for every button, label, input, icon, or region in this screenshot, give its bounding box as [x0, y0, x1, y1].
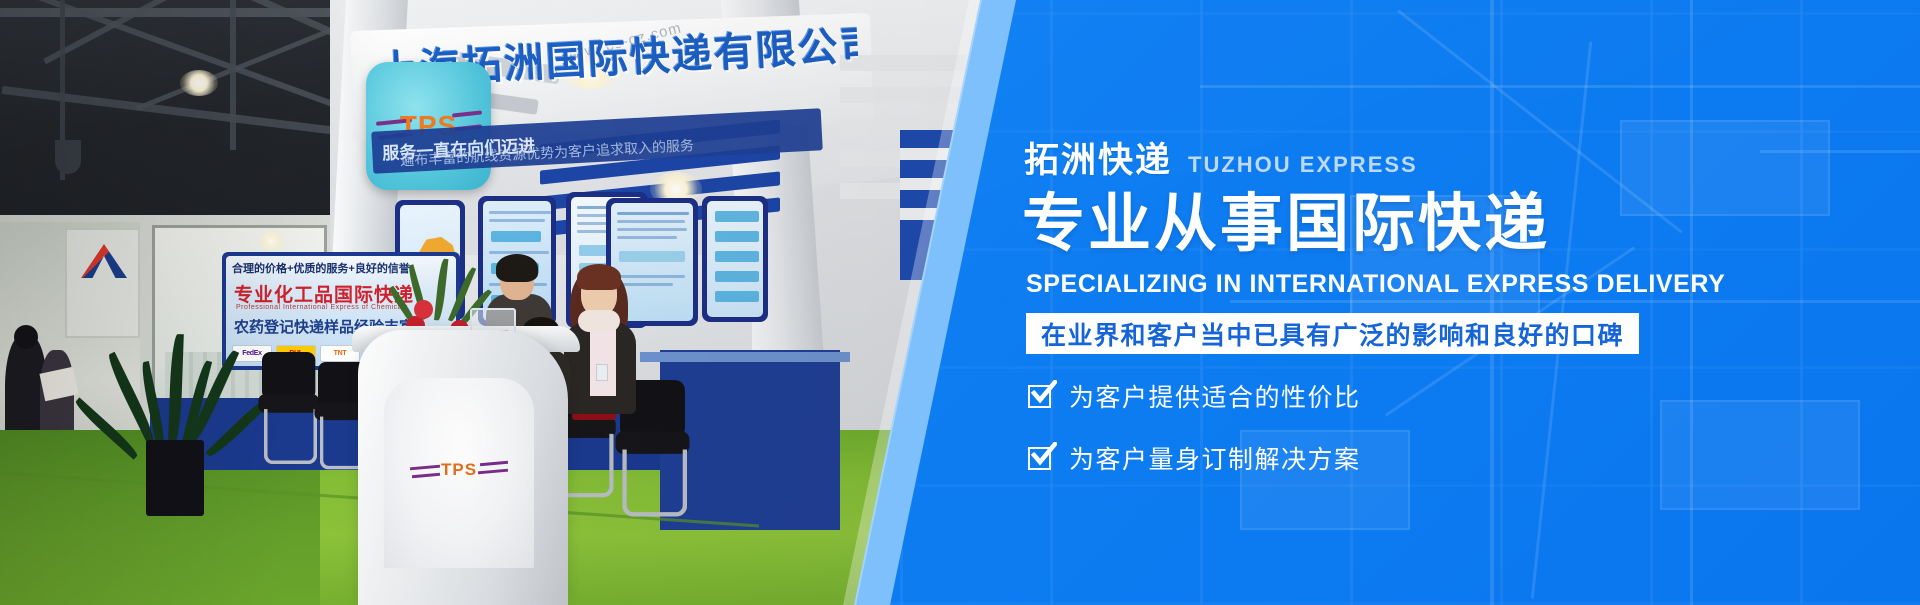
ceiling-spotlight-icon — [180, 70, 218, 96]
reception-desk-front-panel: TPS — [384, 378, 534, 568]
checkbox-checked-icon — [1028, 447, 1051, 470]
brand-name-en: TUZHOU EXPRESS — [1188, 154, 1418, 178]
ceiling-truss-icon — [230, 0, 236, 150]
booth-base-strip — [640, 352, 850, 362]
bullet-label: 为客户量身订制解决方案 — [1069, 440, 1361, 476]
list-item: 为客户提供适合的性价比 — [1028, 378, 1361, 414]
highlight-statement-text: 在业界和客户当中已具有广泛的影响和良好的口碑 — [1041, 316, 1624, 352]
headline-cn: 专业从事国际快递 — [1022, 192, 1550, 258]
subheadline-en: SPECIALIZING IN INTERNATIONAL EXPRESS DE… — [1026, 270, 1725, 299]
booth-panel-info — [702, 196, 768, 322]
bullet-label: 为客户提供适合的性价比 — [1069, 378, 1361, 414]
highlight-statement-bar: 在业界和客户当中已具有广泛的影响和良好的口碑 — [1026, 313, 1639, 354]
list-item: 为客户量身订制解决方案 — [1028, 440, 1361, 476]
ad-board-line-1: 合理的价格+优质的服务+良好的信誉 — [232, 260, 410, 276]
brand-name-cn: 拓洲快递 — [1024, 143, 1172, 178]
ceiling-spotlight-icon — [258, 232, 284, 250]
banner-copy-block: 拓洲快递 TUZHOU EXPRESS 专业从事国际快递 SPECIALIZIN… — [1024, 0, 1904, 605]
brand-row: 拓洲快递 TUZHOU EXPRESS — [1024, 143, 1418, 178]
checkbox-checked-icon — [1028, 385, 1051, 408]
ad-board-line-2: 专业化工品国际快递 — [234, 280, 414, 307]
ceiling-lamp-icon — [55, 140, 81, 174]
exhibition-booth-photo: www.tps-oz.com 上海拓洲国际快递有限公司 TPS 服务一直在向们迈… — [0, 0, 1010, 605]
tps-desk-logo-text: TPS — [384, 460, 534, 480]
background-logo-icon — [81, 244, 127, 278]
visitor-head — [14, 325, 38, 349]
potted-palm-plant — [128, 330, 224, 510]
background-poster — [65, 228, 140, 338]
feature-bullet-list: 为客户提供适合的性价比 为客户量身订制解决方案 — [1028, 378, 1361, 502]
hero-banner: www.tps-oz.com 上海拓洲国际快递有限公司 TPS 服务一直在向们迈… — [0, 0, 1920, 605]
ad-board-line-3: Professional International Express of Ch… — [236, 304, 408, 311]
plant-pot — [146, 440, 204, 516]
